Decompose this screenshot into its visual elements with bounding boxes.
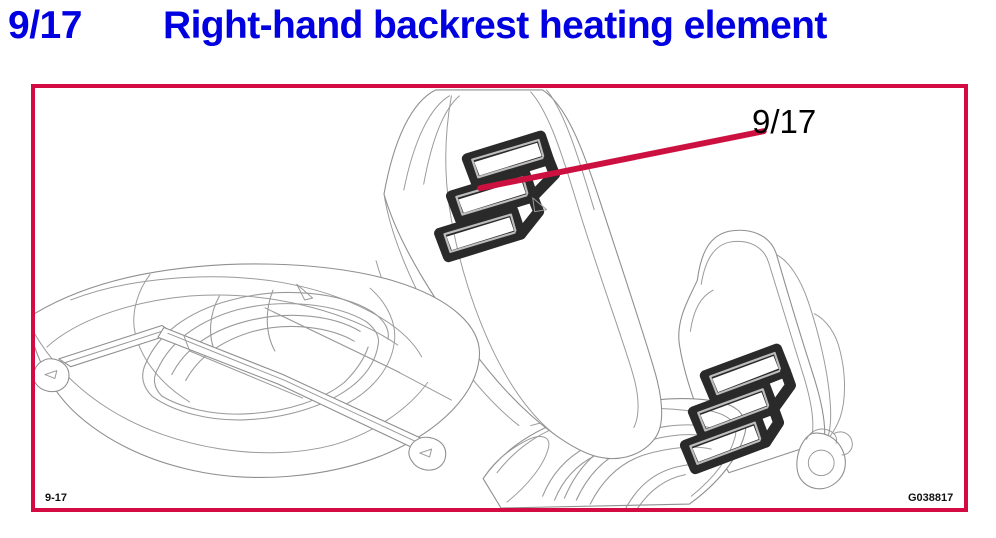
seat-illustration: .la { fill:none; stroke:#8f8f8f; stroke-… [35, 88, 964, 508]
page-title: Right-hand backrest heating element [163, 4, 827, 48]
page-code: 9-17 [45, 492, 67, 504]
front-seat-assembly [35, 90, 662, 477]
front-rail-left-end [35, 359, 69, 392]
page-header: 9/17 Right-hand backrest heating element [0, 0, 996, 62]
figure-panel: .la { fill:none; stroke:#8f8f8f; stroke-… [31, 84, 968, 512]
callout-label: 9/17 [752, 103, 816, 141]
front-rail-right-end [409, 437, 446, 470]
rear-recliner-cover [797, 433, 846, 489]
figure-code: G038817 [908, 492, 953, 504]
header-item-number: 9/17 [8, 4, 82, 48]
